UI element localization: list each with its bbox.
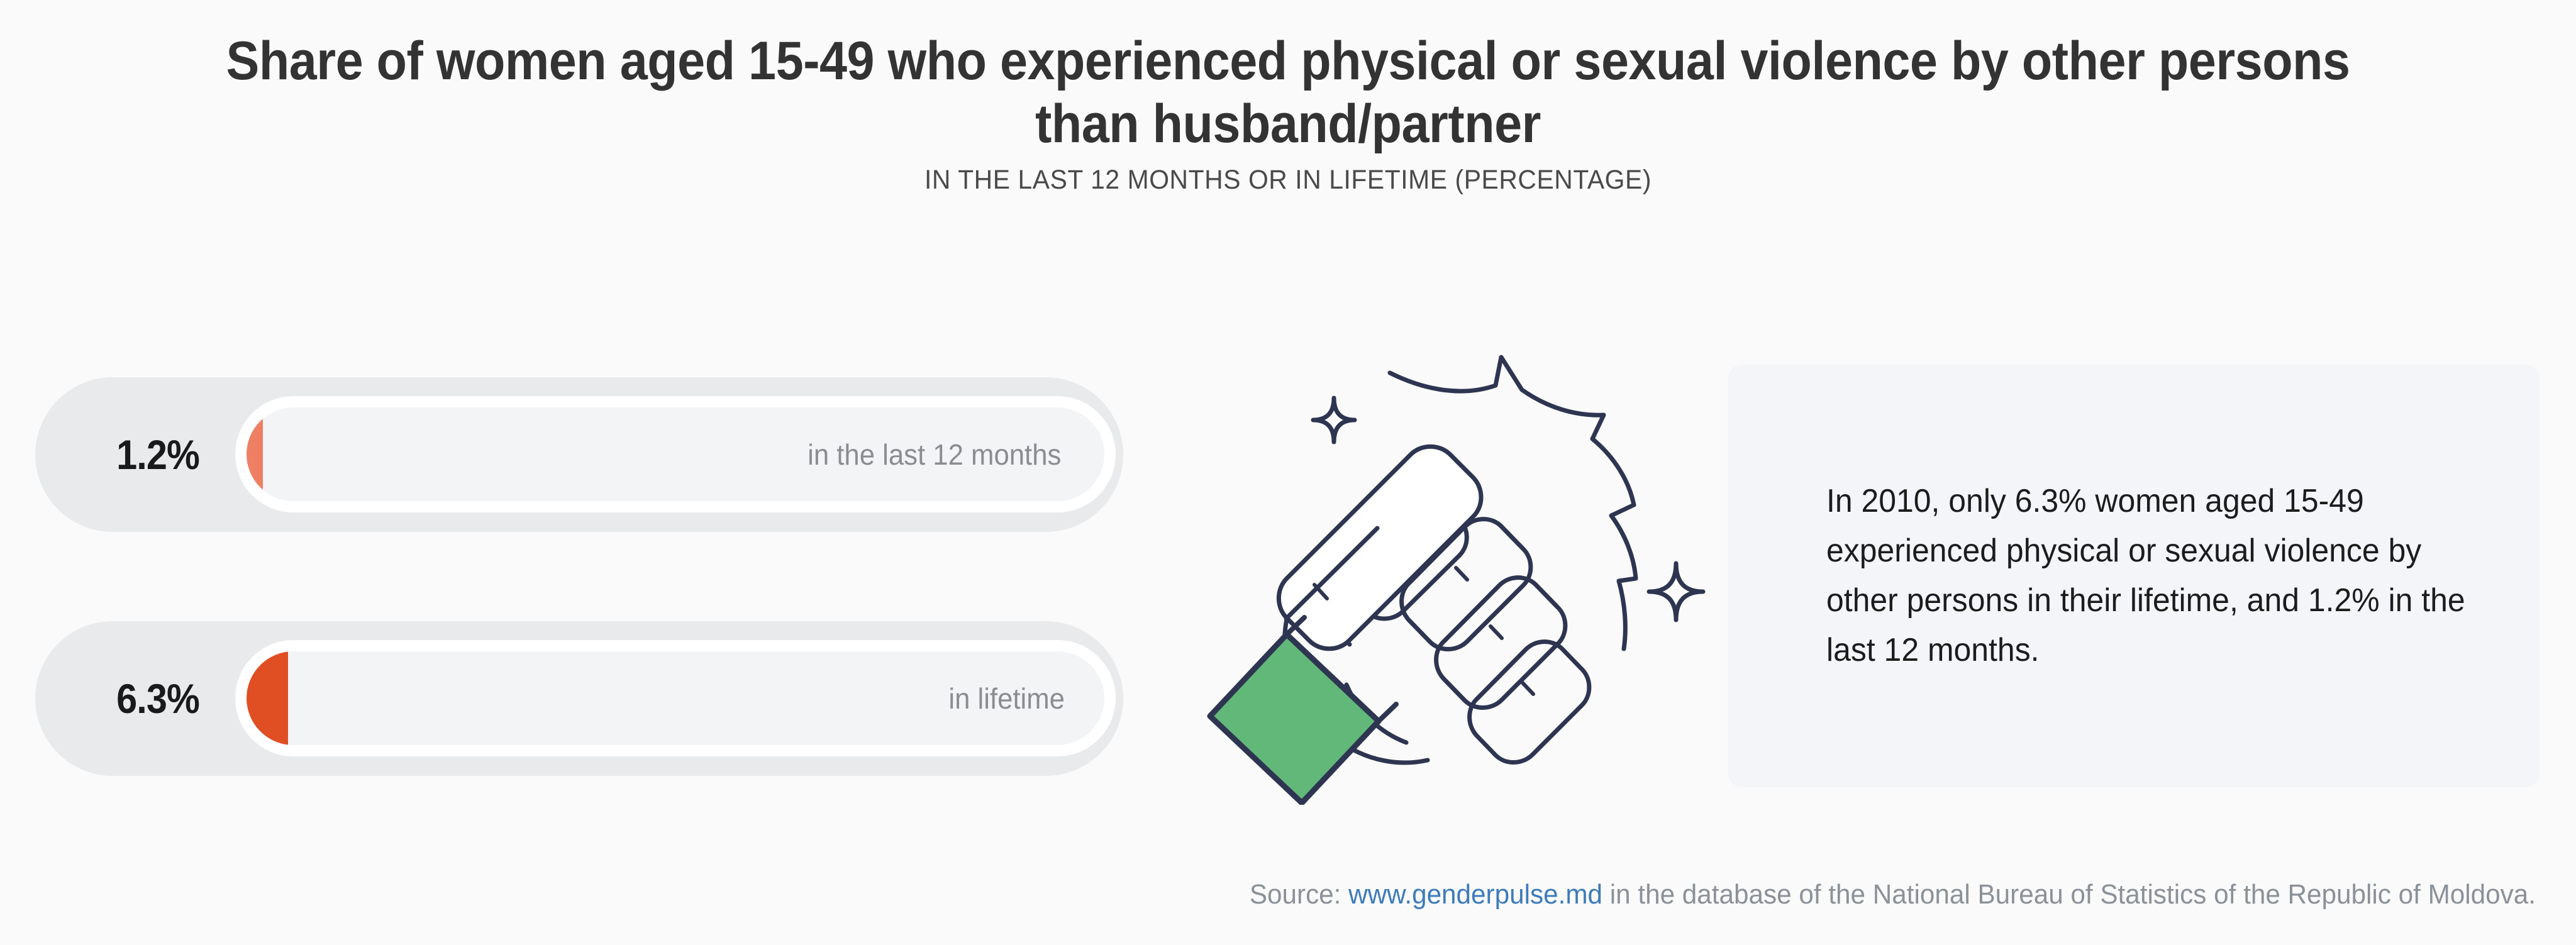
- bar-category-label: in the last 12 months: [808, 438, 1097, 472]
- header: Share of women aged 15-49 who experience…: [0, 30, 2576, 196]
- source-link[interactable]: www.genderpulse.md: [1348, 879, 1602, 910]
- fist-icon: [1210, 446, 1589, 803]
- bar-value-label: 1.2%: [87, 431, 229, 478]
- bar-track: in lifetime: [247, 651, 1104, 745]
- callout-box: In 2010, only 6.3% women aged 15-49 expe…: [1728, 365, 2540, 787]
- callout-text: In 2010, only 6.3% women aged 15-49 expe…: [1826, 365, 2468, 787]
- fist-illustration: [1170, 327, 1748, 805]
- source-suffix: in the database of the National Bureau o…: [1602, 879, 2536, 910]
- page-title: Share of women aged 15-49 who experience…: [145, 30, 2431, 156]
- source-prefix: Source:: [1250, 879, 1348, 910]
- bar-track: in the last 12 months: [247, 407, 1104, 501]
- bar-ring: in the last 12 months: [235, 396, 1116, 512]
- source-line: Source: www.genderpulse.md in the databa…: [101, 879, 2536, 910]
- bar-fill: [247, 407, 263, 501]
- bar-fill: [247, 651, 288, 745]
- bar-value-label: 6.3%: [87, 675, 229, 722]
- bar-row-last-12-months: 1.2% in the last 12 months: [35, 377, 1123, 532]
- sleeve-cuff: [1210, 634, 1379, 803]
- sparkle-icon: [1313, 398, 1355, 442]
- page-subtitle: IN THE LAST 12 MONTHS OR IN LIFETIME (PE…: [64, 165, 2511, 196]
- bar-row-lifetime: 6.3% in lifetime: [35, 621, 1123, 776]
- bar-ring: in lifetime: [235, 640, 1116, 756]
- sparkle-icon: [1649, 563, 1703, 620]
- infographic-page: Share of women aged 15-49 who experience…: [0, 0, 2576, 945]
- bar-category-label: in lifetime: [948, 682, 1101, 716]
